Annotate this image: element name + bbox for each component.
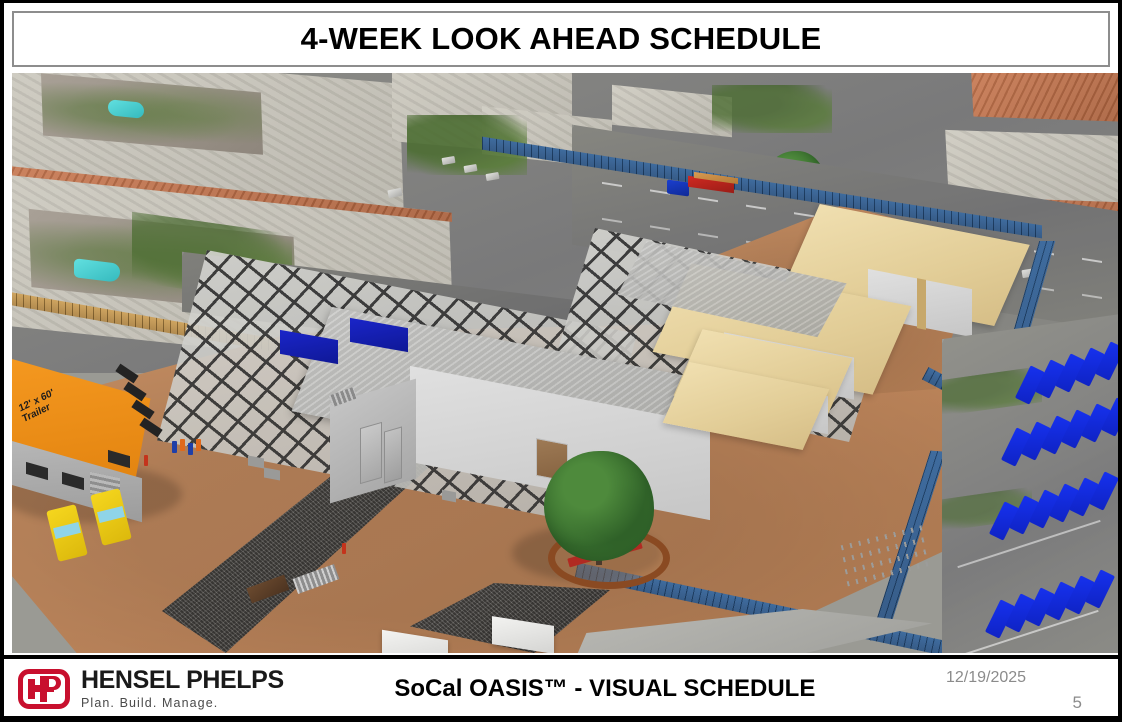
modular-wing-column xyxy=(917,278,926,330)
brand-text: HENSEL PHELPS Plan. Build. Manage. xyxy=(81,668,284,710)
worker-figure xyxy=(196,439,201,451)
preserved-tree xyxy=(544,451,654,561)
footer-project-title: SoCal OASIS™ - VISUAL SCHEDULE xyxy=(284,675,896,703)
aerial-street-trees xyxy=(712,85,832,133)
page-title: 4-WEEK LOOK AHEAD SCHEDULE xyxy=(301,21,822,57)
worker-figure xyxy=(180,439,185,451)
building-door xyxy=(360,422,382,484)
worker-figure xyxy=(342,543,346,554)
site-rendering-canvas: 12' x 60' Trailer xyxy=(12,73,1118,653)
worker-figure xyxy=(144,455,148,466)
brand-lockup: HENSEL PHELPS Plan. Build. Manage. xyxy=(18,668,284,710)
slide-title-box: 4-WEEK LOOK AHEAD SCHEDULE xyxy=(12,11,1110,67)
footer-bottom-rule xyxy=(4,716,1118,719)
site-rendering-image: 12' x 60' Trailer xyxy=(12,73,1118,653)
aerial-building-roof xyxy=(971,73,1118,122)
slide-frame: 4-WEEK LOOK AHEAD SCHEDULE xyxy=(0,0,1122,722)
brand-name: HENSEL PHELPS xyxy=(81,668,284,693)
worker-figure xyxy=(172,441,177,453)
slide-footer: HENSEL PHELPS Plan. Build. Manage. SoCal… xyxy=(4,659,1118,719)
hensel-phelps-logo-icon xyxy=(18,669,70,709)
worker-figure xyxy=(188,443,193,455)
brand-tagline: Plan. Build. Manage. xyxy=(81,697,284,710)
footer-meta: 12/19/2025 5 xyxy=(896,661,1106,717)
page-number: 5 xyxy=(1073,693,1082,713)
footer-date: 12/19/2025 xyxy=(946,669,1026,687)
delivery-truck-cab xyxy=(667,179,689,196)
building-door xyxy=(384,426,402,483)
